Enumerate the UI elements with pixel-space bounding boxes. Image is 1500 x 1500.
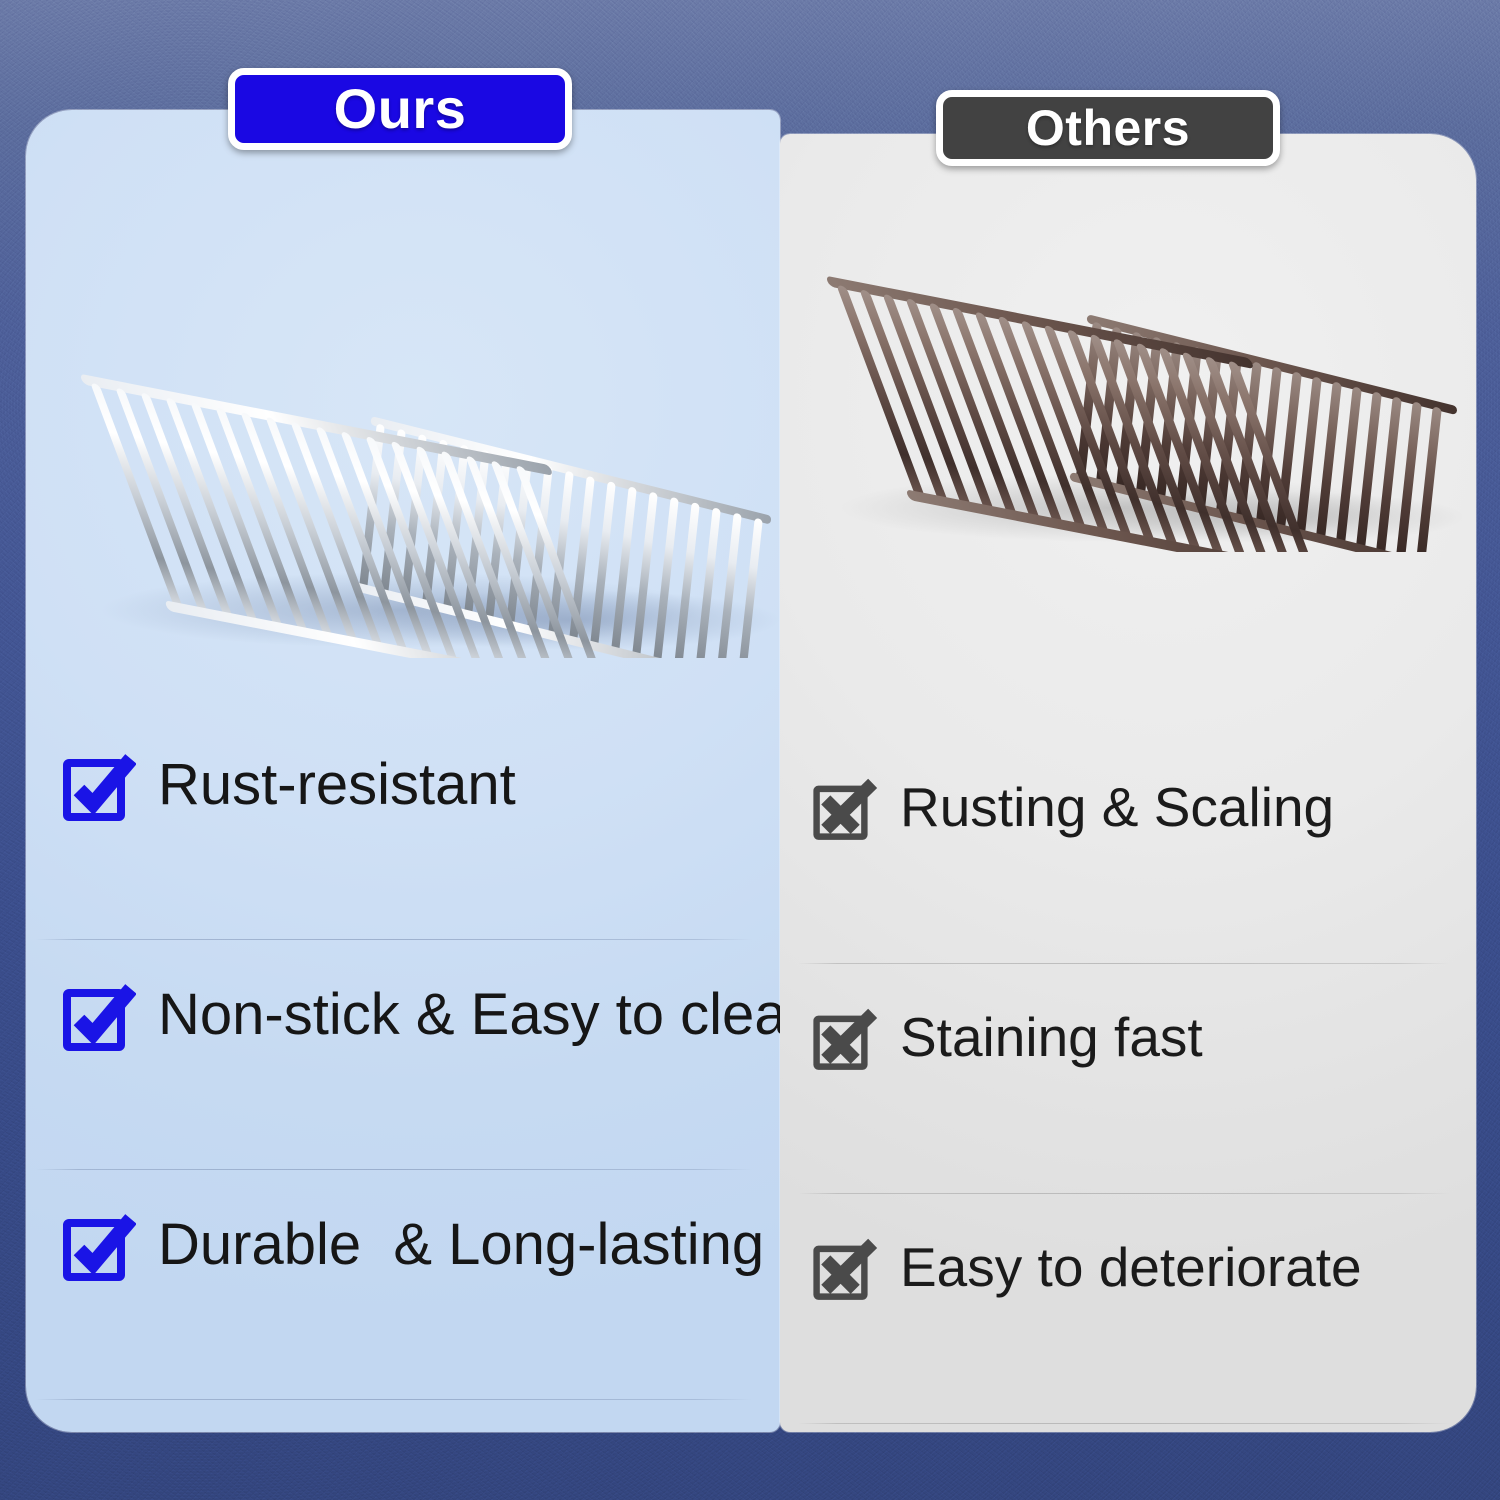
feature-label: Durable & Long-lasting (158, 1208, 764, 1282)
feature-row: Durable & Long-lasting (26, 1170, 780, 1400)
feature-row: Easy to deteriorate (780, 1194, 1476, 1424)
others-title-badge: Others (936, 90, 1280, 166)
others-product-image (815, 262, 1465, 552)
feature-label: Non-stick & Easy to clean (158, 978, 780, 1052)
ours-panel: Rust-resistant Non-stick & Easy to clean (26, 110, 780, 1432)
feature-label: Rust-resistant (158, 748, 516, 822)
checkbox-checked-icon (62, 750, 136, 824)
ours-title-label: Ours (334, 81, 467, 137)
feature-row: Rust-resistant (26, 710, 780, 940)
feature-label: Staining fast (900, 1002, 1203, 1072)
comparison-infographic: Rust-resistant Non-stick & Easy to clean (0, 0, 1500, 1500)
checkbox-x-icon (812, 776, 880, 844)
others-feature-list: Rusting & Scaling Staining fast (780, 734, 1476, 1424)
feature-label: Rusting & Scaling (900, 772, 1334, 842)
ours-feature-list: Rust-resistant Non-stick & Easy to clean (26, 710, 780, 1400)
checkbox-checked-icon (62, 980, 136, 1054)
stainless-grill-grates-icon (71, 358, 780, 658)
ours-title-badge: Ours (228, 68, 572, 150)
feature-row: Staining fast (780, 964, 1476, 1194)
rusted-grill-grates-icon (815, 262, 1465, 552)
feature-row: Rusting & Scaling (780, 734, 1476, 964)
feature-label: Easy to deteriorate (900, 1232, 1362, 1302)
feature-row: Non-stick & Easy to clean (26, 940, 780, 1170)
ours-product-image (71, 358, 780, 658)
checkbox-checked-icon (62, 1210, 136, 1284)
others-title-label: Others (1026, 103, 1190, 153)
others-panel: Rusting & Scaling Staining fast (780, 134, 1476, 1432)
checkbox-x-icon (812, 1006, 880, 1074)
checkbox-x-icon (812, 1236, 880, 1304)
